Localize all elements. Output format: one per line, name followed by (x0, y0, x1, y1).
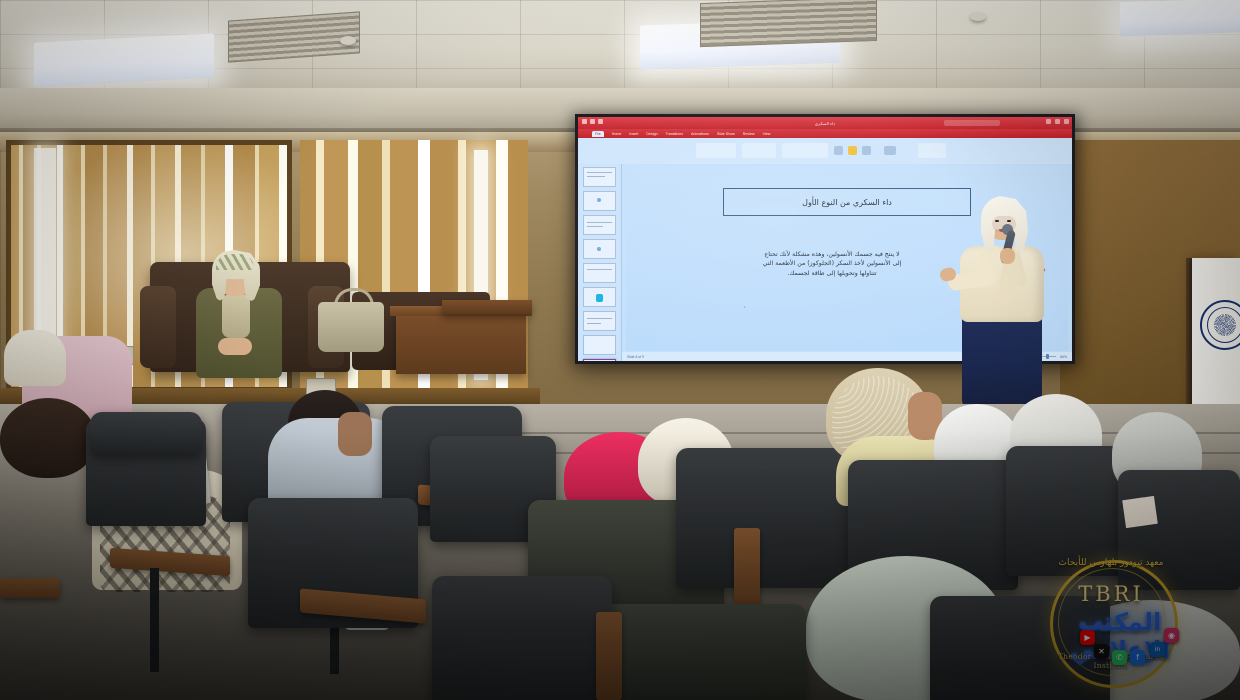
whatsapp-icon[interactable]: ✆ (1112, 650, 1127, 665)
slide-thumbnail[interactable] (583, 263, 616, 283)
slide-marker: • (744, 304, 745, 309)
auditorium-seat[interactable] (90, 412, 202, 454)
zoom-level[interactable]: 66% (1060, 355, 1067, 359)
auditorium-seat[interactable] (676, 448, 852, 588)
ceiling (0, 0, 1240, 96)
floor-seam (400, 432, 1240, 434)
instagram-icon[interactable]: ◉ (1164, 628, 1179, 643)
slide-thumbnail-selected[interactable] (583, 359, 616, 361)
paper-sheet (1122, 496, 1158, 528)
slide-thumbnail[interactable] (583, 215, 616, 235)
seat-armrest (0, 578, 60, 598)
slide-title-text: داء السكري من النوع الأول (802, 198, 892, 207)
tab-transitions[interactable]: Transitions (666, 132, 683, 136)
tbri-media-office-watermark: معهد تيودور بلهارس للأبحاث TBRI المكتب ا… (1032, 556, 1208, 686)
attendee-pink-hijab (4, 330, 66, 386)
seat-leg (150, 568, 159, 672)
powerpoint-title-bar: داء السكري (578, 117, 1072, 129)
slide-thumbnail[interactable] (583, 167, 616, 187)
presenter-right-hand (1000, 248, 1015, 264)
slide-body-text: لا ينتج فيه جسمك الأنسولين، وهذه مشكلة ل… (762, 250, 902, 278)
seat-armrest (596, 612, 622, 700)
tab-home[interactable]: Home (612, 132, 622, 136)
ceiling-light-panel (1120, 0, 1240, 36)
tab-view[interactable]: View (763, 132, 771, 136)
watermark-acronym: TBRI (1050, 582, 1172, 606)
front-desk-side (442, 300, 532, 314)
sofa-armrest-left (140, 286, 176, 368)
attendee-hands (218, 338, 252, 355)
handbag (318, 302, 384, 352)
presenter-eye-right (1007, 220, 1011, 222)
ribbon-group-font[interactable] (782, 143, 828, 158)
ribbon-group-slides[interactable] (742, 143, 776, 158)
ceiling-light-panel (34, 33, 214, 86)
save-icon[interactable] (582, 119, 587, 124)
institute-seal-logo (1200, 300, 1240, 350)
ribbon-tab-bar[interactable]: File Home Insert Design Transitions Anim… (578, 129, 1072, 138)
linkedin-icon[interactable]: in (1150, 642, 1165, 657)
search-box[interactable] (944, 120, 1000, 126)
seat-armrest (734, 528, 760, 608)
auditorium-seat[interactable] (432, 576, 612, 700)
smoke-detector (340, 36, 356, 45)
ribbon-commands[interactable] (578, 138, 1072, 164)
tab-review[interactable]: Review (743, 132, 755, 136)
attendee-head-dark (0, 398, 96, 478)
slide-thumbnail[interactable] (583, 287, 616, 307)
presenter-eye-left (995, 220, 999, 222)
slide-title-placeholder[interactable]: داء السكري من النوع الأول (723, 188, 971, 216)
attendee-hijab-pattern (216, 254, 254, 270)
slide-thumbnail[interactable] (583, 191, 616, 211)
attendee-scarf (222, 294, 250, 338)
ribbon-icon-shapes[interactable] (848, 146, 857, 155)
slide-counter: Slide 8 of 9 (627, 355, 644, 359)
redo-icon[interactable] (598, 119, 603, 124)
maximize-icon[interactable] (1055, 119, 1060, 124)
x-twitter-icon[interactable]: ✕ (1094, 644, 1109, 659)
ribbon-icon-paragraph[interactable] (834, 146, 843, 155)
tab-animations[interactable]: Animations (691, 132, 709, 136)
front-desk (396, 312, 526, 374)
lecture-hall-photo: داء السكري File Home Insert Design Trans… (0, 0, 1240, 700)
slide-thumbnail-pane[interactable] (578, 164, 622, 361)
file-name-label: داء السكري (815, 121, 835, 126)
ribbon-icon-arrange[interactable] (862, 146, 871, 155)
slide-thumbnail[interactable] (583, 311, 616, 331)
presenter-speaker (948, 196, 1060, 420)
slide-thumbnail[interactable] (583, 335, 616, 355)
youtube-icon[interactable]: ▶ (1080, 630, 1095, 645)
attendee-hand-face (338, 412, 372, 456)
ribbon-icon-editing[interactable] (884, 146, 896, 155)
tab-insert[interactable]: Insert (629, 132, 638, 136)
ribbon-group-designer[interactable] (918, 143, 946, 158)
tab-slide-show[interactable]: Slide Show (717, 132, 735, 136)
tab-design[interactable]: Design (646, 132, 657, 136)
ribbon-group-clipboard[interactable] (696, 143, 736, 158)
tab-file[interactable]: File (592, 131, 604, 137)
window-controls[interactable] (1046, 119, 1069, 124)
undo-icon[interactable] (590, 119, 595, 124)
facebook-icon[interactable]: f (1130, 650, 1145, 665)
seated-attendee-front (190, 250, 300, 374)
close-icon[interactable] (1064, 119, 1069, 124)
quick-access-toolbar[interactable] (582, 119, 603, 124)
minimize-icon[interactable] (1046, 119, 1051, 124)
slide-thumbnail[interactable] (583, 239, 616, 259)
smoke-detector (970, 12, 986, 21)
hvac-vent (700, 0, 877, 47)
seal-rays (1214, 314, 1236, 336)
